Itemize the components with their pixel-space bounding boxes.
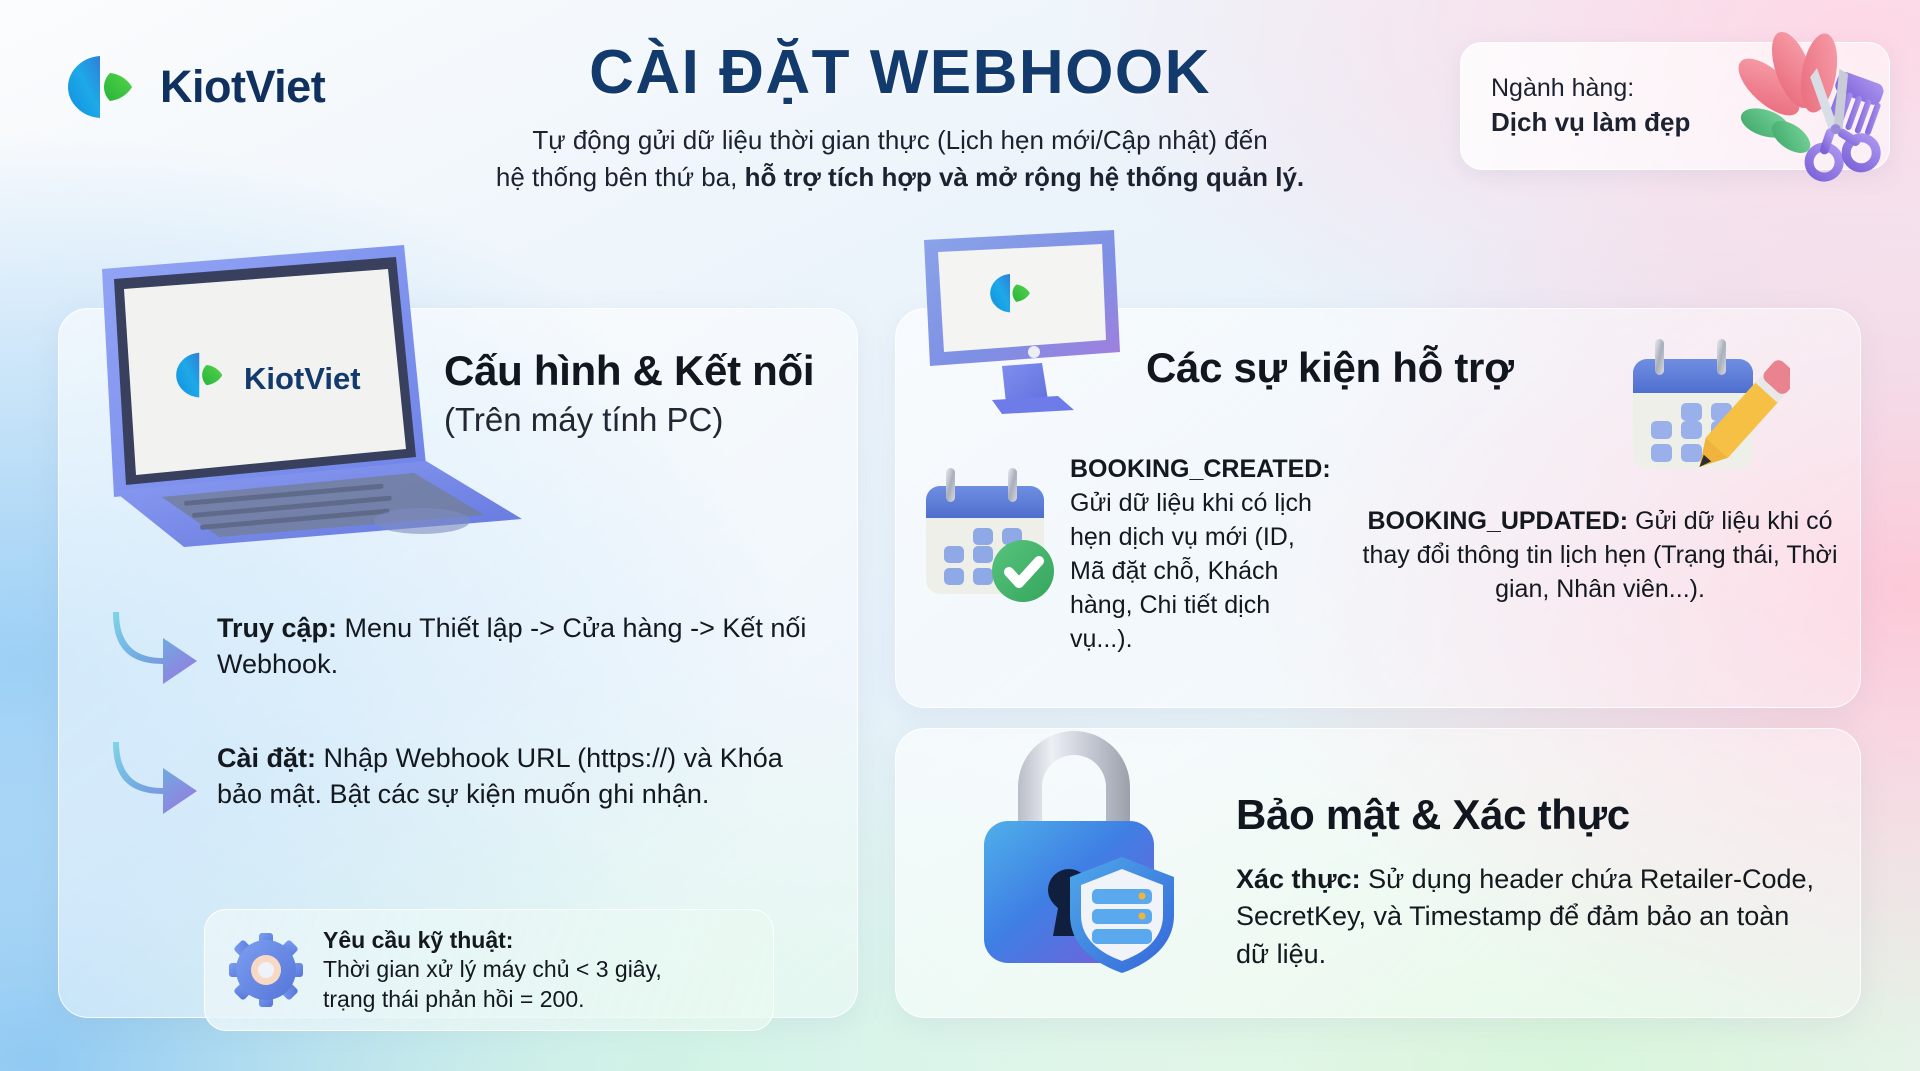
event-booking-updated-text: BOOKING_UPDATED: Gửi dữ liệu khi có thay…	[1351, 504, 1849, 606]
config-heading: Cấu hình & Kết nối (Trên máy tính PC)	[444, 347, 844, 440]
industry-value: Dịch vụ làm đẹp	[1491, 105, 1690, 140]
header: KiotViet CÀI ĐẶT WEBHOOK Tự động gửi dữ …	[0, 0, 1920, 250]
subtitle-line-2-normal: hệ thống bên thứ ba,	[496, 162, 745, 192]
event-booking-created-text: BOOKING_CREATED: Gửi dữ liệu khi có lịch…	[1070, 444, 1331, 656]
events-title: Các sự kiện hỗ trợ	[1146, 344, 1514, 392]
security-description: Xác thực: Sử dụng header chứa Retailer-C…	[1236, 861, 1826, 973]
curved-arrow-icon	[109, 604, 201, 689]
brand-name: KiotViet	[160, 61, 325, 113]
gear-icon	[227, 931, 305, 1009]
config-step-2-text: Cài đặt: Nhập Webhook URL (https://) và …	[217, 734, 829, 813]
event-booking-created-desc: Gửi dữ liệu khi có lịch hẹn dịch vụ mới …	[1070, 489, 1312, 653]
config-card: KiotViet Cấu hình & Kết nối (Trên máy tí…	[58, 308, 858, 1018]
config-subtitle: (Trên máy tính PC)	[444, 400, 844, 440]
kiotviet-logo-icon	[58, 48, 144, 126]
event-booking-created: BOOKING_CREATED: Gửi dữ liệu khi có lịch…	[910, 444, 1330, 656]
calendar-edit-icon	[1615, 329, 1790, 494]
industry-label: Ngành hàng:	[1491, 72, 1690, 105]
tech-requirements-text: Yêu cầu kỹ thuật: Thời gian xử lý máy ch…	[323, 926, 662, 1014]
subtitle-line-1: Tự động gửi dữ liệu thời gian thực (Lịch…	[532, 125, 1267, 155]
event-booking-updated-name: BOOKING_UPDATED:	[1367, 507, 1628, 535]
security-title: Bảo mật & Xác thực	[1236, 791, 1630, 839]
config-step-2: Cài đặt: Nhập Webhook URL (https://) và …	[109, 734, 829, 819]
padlock-shield-icon	[956, 709, 1186, 979]
events-card: Các sự kiện hỗ trợ	[895, 308, 1861, 708]
title-block: CÀI ĐẶT WEBHOOK Tự động gửi dữ liệu thời…	[440, 38, 1360, 196]
tech-requirements-title: Yêu cầu kỹ thuật:	[323, 926, 662, 955]
config-title: Cấu hình & Kết nối	[444, 347, 844, 394]
page-title: CÀI ĐẶT WEBHOOK	[440, 38, 1360, 107]
security-card: Bảo mật & Xác thực Xác thực: Sử dụng hea…	[895, 728, 1861, 1018]
config-step-1-label: Truy cập:	[217, 613, 337, 643]
industry-text: Ngành hàng: Dịch vụ làm đẹp	[1461, 72, 1690, 140]
calendar-check-icon	[910, 458, 1060, 608]
industry-badge: Ngành hàng: Dịch vụ làm đẹp	[1460, 42, 1890, 170]
beauty-service-icon	[1707, 15, 1907, 190]
page-subtitle: Tự động gửi dữ liệu thời gian thực (Lịch…	[440, 122, 1360, 196]
subtitle-line-2-bold: hỗ trợ tích hợp và mở rộng hệ thống quản…	[745, 162, 1305, 192]
laptop-screen-brand: KiotViet	[244, 361, 361, 396]
config-step-1: Truy cập: Menu Thiết lập -> Cửa hàng -> …	[109, 604, 829, 689]
tech-requirements-line-1: Thời gian xử lý máy chủ < 3 giây,	[323, 955, 662, 984]
config-step-2-label: Cài đặt:	[217, 743, 316, 773]
config-step-1-text: Truy cập: Menu Thiết lập -> Cửa hàng -> …	[217, 604, 829, 683]
brand-logo: KiotViet	[58, 48, 325, 126]
tech-requirements-box: Yêu cầu kỹ thuật: Thời gian xử lý máy ch…	[204, 909, 774, 1031]
curved-arrow-icon	[109, 734, 201, 819]
tech-requirements-line-2: trạng thái phản hồi = 200.	[323, 985, 662, 1014]
monitor-desktop-icon	[906, 224, 1136, 419]
security-label: Xác thực:	[1236, 864, 1361, 894]
event-booking-created-name: BOOKING_CREATED:	[1070, 455, 1331, 483]
